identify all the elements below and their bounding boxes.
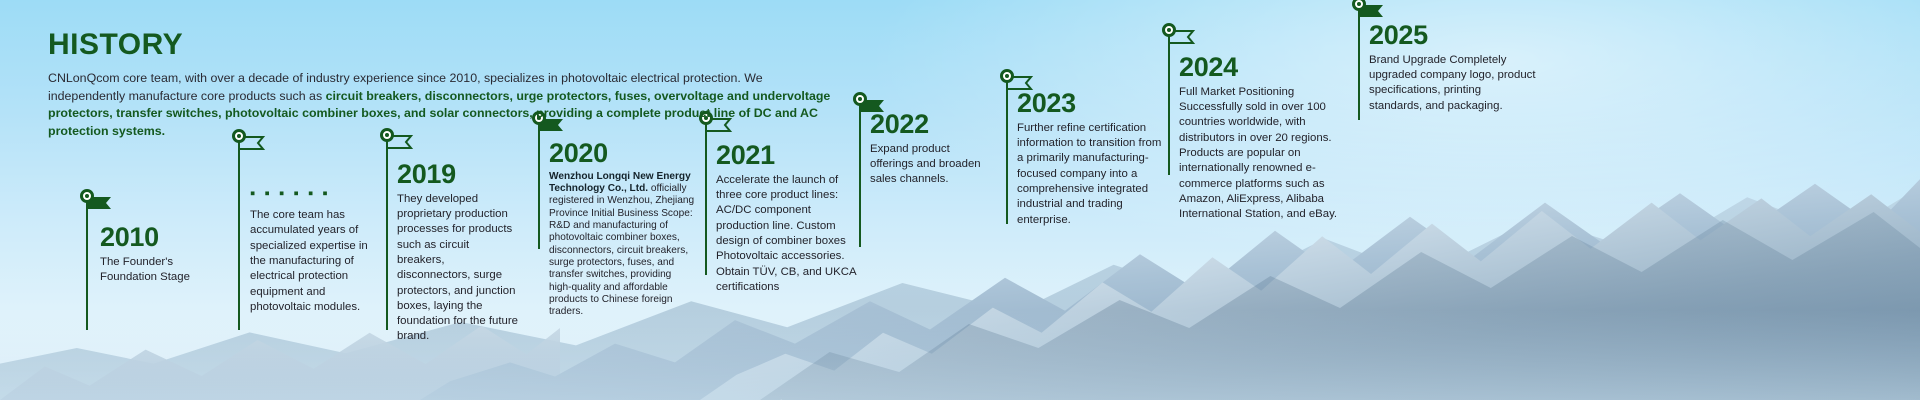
milestone-card: 2019 They developed proprietary producti…: [397, 161, 519, 345]
timeline-pole: [859, 99, 861, 247]
timeline-pole: [238, 136, 240, 330]
milestone-description: Accelerate the launch of three core prod…: [716, 173, 856, 296]
timeline-pole: [86, 196, 88, 330]
timeline-node[interactable]: [1162, 23, 1176, 37]
milestone-year: 2021: [716, 142, 856, 170]
milestone-dots-marker: ▪ ▪ ▪ ▪ ▪ ▪: [250, 186, 370, 201]
milestone-description: Full Market Positioning Successfully sol…: [1179, 85, 1339, 223]
timeline-node[interactable]: [1000, 69, 1014, 83]
milestone-year: 2023: [1017, 90, 1162, 118]
milestone-card: ▪ ▪ ▪ ▪ ▪ ▪ The core team has accumulate…: [250, 186, 370, 315]
intro-paragraph: CNLonQcom core team, with over a decade …: [48, 70, 838, 140]
milestone-description: Brand Upgrade Completely upgraded compan…: [1369, 53, 1537, 114]
milestone-description: They developed proprietary production pr…: [397, 192, 519, 345]
timeline-node[interactable]: [80, 189, 94, 203]
timeline-pole: [1168, 30, 1170, 175]
milestone-description: The core team has accumulated years of s…: [250, 208, 370, 315]
history-header: HISTORY CNLonQcom core team, with over a…: [48, 30, 838, 140]
timeline-pole: [386, 135, 388, 330]
milestone-year: 2022: [870, 111, 994, 139]
milestone-year: 2020: [549, 140, 695, 168]
milestone-year: 2025: [1369, 22, 1537, 50]
milestone-year: 2019: [397, 161, 519, 189]
milestone-card: 2022 Expand product offerings and broade…: [870, 111, 994, 188]
milestone-description: Wenzhou Longqi New Energy Technology Co.…: [549, 171, 695, 319]
milestone-card: 2023 Further refine certification inform…: [1017, 90, 1162, 228]
page-title: HISTORY: [48, 30, 838, 60]
milestone-description: Expand product offerings and broaden sal…: [870, 142, 994, 188]
milestone-year: 2010: [100, 224, 218, 252]
milestone-year: 2024: [1179, 54, 1339, 82]
milestone-card: 2025 Brand Upgrade Completely upgraded c…: [1369, 22, 1537, 114]
milestone-card: 2024 Full Market Positioning Successfull…: [1179, 54, 1339, 222]
milestone-description: Further refine certification information…: [1017, 121, 1162, 228]
milestone-card: 2021 Accelerate the launch of three core…: [716, 142, 856, 295]
timeline-node[interactable]: [853, 92, 867, 106]
milestone-card: 2020 Wenzhou Longqi New Energy Technolog…: [549, 140, 695, 319]
milestone-description: The Founder's Foundation Stage: [100, 255, 218, 286]
milestone-card: 2010 The Founder's Foundation Stage: [100, 224, 218, 285]
timeline-pole: [1006, 76, 1008, 224]
timeline-pole: [705, 118, 707, 275]
